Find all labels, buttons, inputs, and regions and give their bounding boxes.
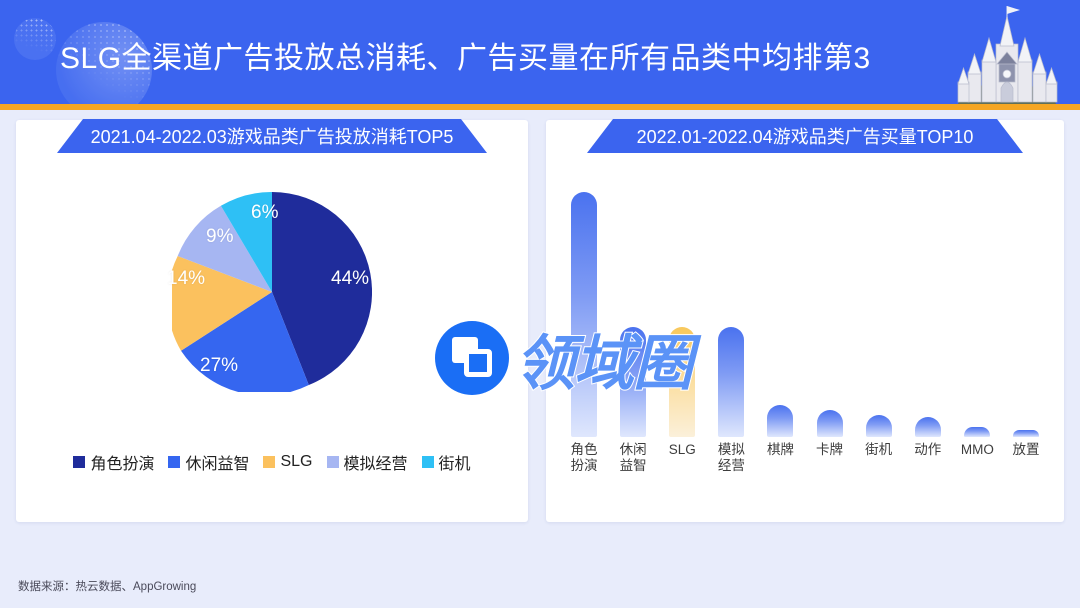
- bar-chart-card: 2022.01-2022.04游戏品类广告买量TOP10 角色扮演 休闲益智 S…: [546, 120, 1064, 522]
- legend-swatch-0: [73, 456, 85, 468]
- legend-label-0: 角色扮演: [90, 450, 154, 474]
- pie-label-2: 14%: [167, 268, 205, 290]
- castle-illustration: [942, 0, 1074, 104]
- bar-5: [817, 410, 843, 437]
- legend-label-1: 休闲益智: [185, 450, 249, 474]
- pie-label-3: 9%: [206, 226, 233, 248]
- bar-chart: [568, 192, 1042, 437]
- x-label-4: 棋牌: [764, 442, 796, 474]
- bar-column-2: [666, 192, 698, 437]
- bar-column-0: [568, 192, 600, 437]
- bar-column-5: [814, 192, 846, 437]
- bar-6: [866, 415, 892, 437]
- legend-item-1: 休闲益智: [168, 450, 249, 474]
- header-accent-bar: [0, 104, 1080, 110]
- bar-1: [620, 327, 646, 437]
- bar-column-1: [617, 192, 649, 437]
- bar-0: [571, 192, 597, 437]
- legend-label-3: 模拟经营: [344, 450, 408, 474]
- pie-label-4: 6%: [251, 202, 278, 224]
- legend-swatch-1: [168, 456, 180, 468]
- x-label-8: MMO: [961, 442, 993, 474]
- bar-column-8: [961, 192, 993, 437]
- x-label-6: 街机: [863, 442, 895, 474]
- legend-swatch-4: [422, 456, 434, 468]
- x-label-2: SLG: [666, 442, 698, 474]
- bar-chart-x-axis: 角色扮演 休闲益智 SLG 模拟经营 棋牌 卡牌 街机 动作 MMO 放置: [568, 442, 1042, 474]
- page-title: SLG全渠道广告投放总消耗、广告买量在所有品类中均排第3: [60, 33, 871, 77]
- x-label-0: 角色扮演: [568, 442, 600, 474]
- legend-item-0: 角色扮演: [73, 450, 154, 474]
- bar-2: [669, 327, 695, 437]
- x-label-7: 动作: [912, 442, 944, 474]
- pie-legend: 角色扮演 休闲益智 SLG 模拟经营 街机: [16, 450, 528, 474]
- legend-item-2: SLG: [263, 453, 312, 471]
- bar-3: [718, 327, 744, 437]
- bar-column-3: [715, 192, 747, 437]
- bar-column-4: [764, 192, 796, 437]
- bar-7: [915, 417, 941, 437]
- decorative-dot-small: [14, 18, 56, 60]
- x-label-9: 放置: [1010, 442, 1042, 474]
- x-label-3: 模拟经营: [715, 442, 747, 474]
- legend-swatch-2: [263, 456, 275, 468]
- legend-item-4: 街机: [422, 450, 471, 474]
- pie-chart-card: 2021.04-2022.03游戏品类广告投放消耗TOP5 44% 27% 14…: [16, 120, 528, 522]
- pie-chart-area: 44% 27% 14% 9% 6%: [16, 182, 528, 432]
- bar-card-banner-title: 2022.01-2022.04游戏品类广告买量TOP10: [587, 119, 1023, 153]
- x-label-5: 卡牌: [814, 442, 846, 474]
- legend-label-2: SLG: [280, 453, 312, 471]
- bar-4: [767, 405, 793, 437]
- legend-label-4: 街机: [439, 450, 471, 474]
- bar-column-9: [1010, 192, 1042, 437]
- page-header: SLG全渠道广告投放总消耗、广告买量在所有品类中均排第3: [0, 0, 1080, 104]
- bar-8: [964, 427, 990, 437]
- data-source-note: 数据来源：热云数据、AppGrowing: [18, 578, 196, 594]
- bar-9: [1013, 430, 1039, 437]
- pie-card-banner-title: 2021.04-2022.03游戏品类广告投放消耗TOP5: [57, 119, 487, 153]
- bar-column-7: [912, 192, 944, 437]
- x-label-1: 休闲益智: [617, 442, 649, 474]
- bar-column-6: [863, 192, 895, 437]
- legend-item-3: 模拟经营: [327, 450, 408, 474]
- pie-label-1: 27%: [200, 355, 238, 377]
- legend-swatch-3: [327, 456, 339, 468]
- pie-label-0: 44%: [331, 268, 369, 290]
